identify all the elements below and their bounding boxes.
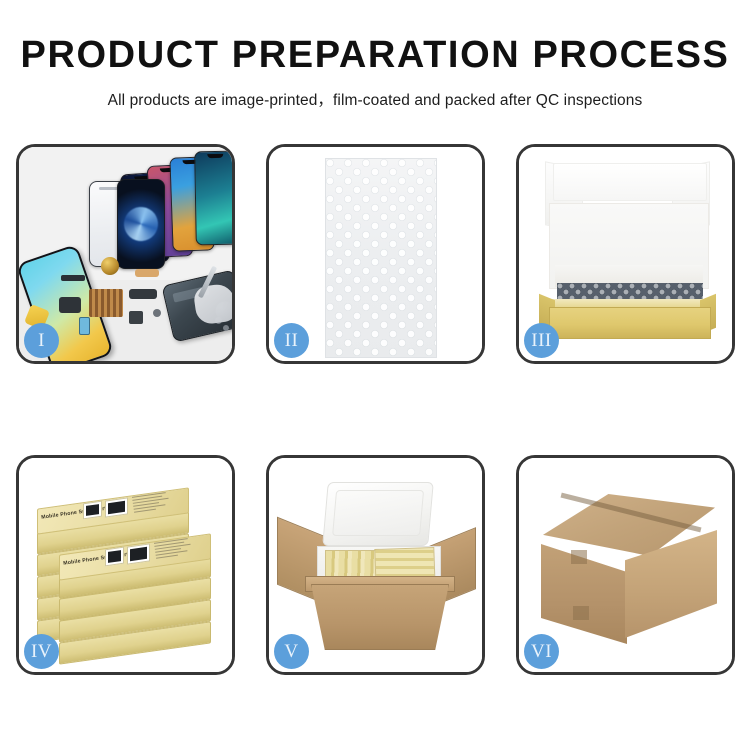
box-window-icon	[83, 501, 102, 520]
phone-teal-icon	[194, 151, 232, 246]
process-step-2[interactable]: II	[266, 144, 485, 364]
process-step-6[interactable]: VI	[516, 455, 735, 675]
process-step-grid: I II	[16, 144, 736, 675]
box-front-panel-icon	[549, 307, 711, 339]
bubble-texture	[326, 159, 436, 357]
process-step-5[interactable]: V	[266, 455, 485, 675]
step-badge-1: I	[24, 323, 59, 358]
foam-lid-icon	[322, 482, 434, 546]
carton-tape-icon	[573, 606, 589, 620]
flex-cable-b-icon	[129, 289, 157, 299]
flex-cable-c-icon	[59, 297, 81, 313]
step-badge-4: IV	[24, 634, 59, 669]
box-stack: Mobile Phone Spare Parts Mobile Phone Sp…	[37, 458, 227, 672]
phone-screen-icon	[117, 179, 165, 269]
box-window-icon	[105, 547, 124, 567]
page-title: PRODUCT PREPARATION PROCESS	[0, 36, 750, 76]
step-badge-5: V	[274, 634, 309, 669]
process-step-4[interactable]: Mobile Phone Spare Parts Mobile Phone Sp…	[16, 455, 235, 675]
step-badge-3: III	[524, 323, 559, 358]
screw-icon	[223, 325, 229, 331]
notch-icon	[207, 154, 223, 158]
process-step-3[interactable]: III	[516, 144, 735, 364]
carton-body-icon	[311, 584, 449, 650]
step-badge-2: II	[274, 323, 309, 358]
bubble-wrap-bag	[325, 158, 437, 358]
process-step-1[interactable]: I	[16, 144, 235, 364]
carton-tape-icon	[571, 550, 587, 564]
box-window-icon	[127, 543, 150, 564]
page-header: PRODUCT PREPARATION PROCESS All products…	[0, 0, 750, 110]
page-subtitle: All products are image-printed，film-coat…	[0, 88, 750, 110]
vibration-motor-icon	[101, 257, 119, 275]
screw-icon	[153, 309, 161, 317]
chip-grid-icon	[89, 289, 123, 317]
speaker-bar-icon	[61, 275, 85, 281]
step-badge-6: VI	[524, 634, 559, 669]
side-button-icon	[79, 317, 90, 335]
speaker-module-icon	[129, 311, 143, 324]
box-window-icon	[105, 497, 128, 517]
box-lid-top-icon	[553, 163, 707, 201]
flex-cable-a-icon	[135, 269, 159, 277]
